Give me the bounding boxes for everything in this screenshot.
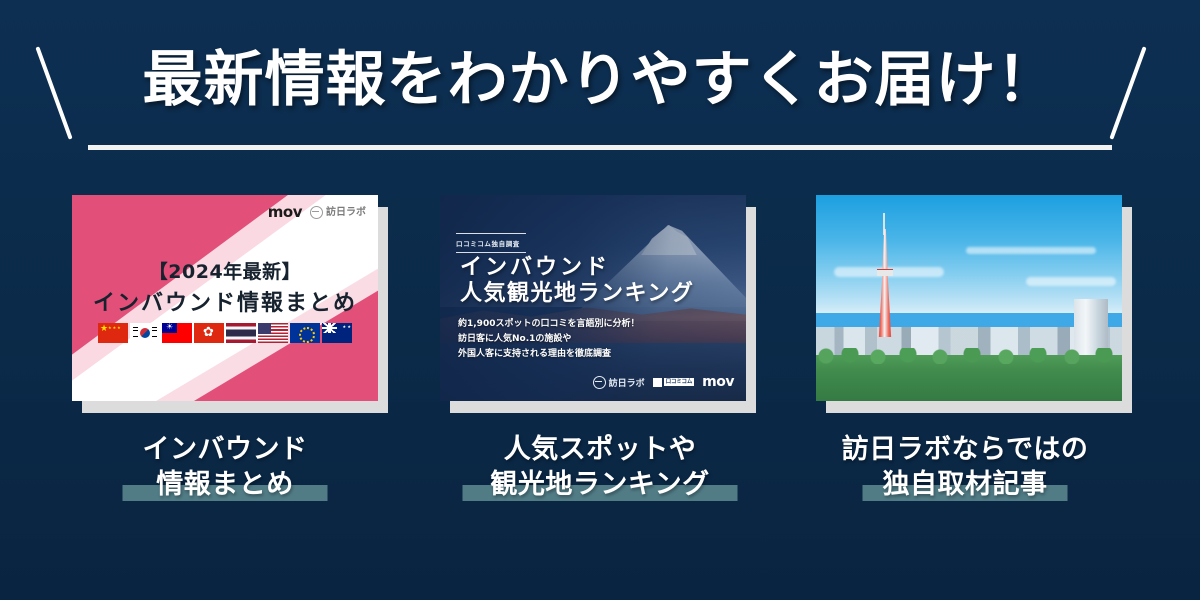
green-foliage [816,355,1122,401]
hounichi-mark-icon [593,376,606,389]
kuchikomicom-logo: 口コミコム [653,378,695,387]
page-headline: 最新情報をわかりやすくお届け！ [0,50,1200,110]
card1-title-line2: インバウンド情報まとめ [72,285,378,317]
caption-original-article: 訪日ラボならではの 独自取材記事 [785,432,1145,502]
caption-line-2: 情報まとめ [45,467,405,502]
hounichi-labo-label: 訪日ラボ [609,376,645,389]
card1-logo-row: mov 訪日ラボ [268,205,366,220]
card-row: mov 訪日ラボ 【2024年最新】 インバウンド情報まとめ [0,188,1200,418]
hounichi-labo-label: 訪日ラボ [326,208,366,218]
card2-logo-row: 訪日ラボ 口コミコム mov [593,374,734,390]
united-states-flag [258,323,288,343]
card-thumbnail[interactable]: mov 訪日ラボ 【2024年最新】 インバウンド情報まとめ [72,195,378,401]
card2-title-line1: インバウンド [460,257,610,279]
hong-kong-flag [194,323,224,343]
card1-title-line1: 【2024年最新】 [72,257,378,284]
headline-divider [88,145,1112,150]
caption-ranking: 人気スポットや 観光地ランキング [420,432,780,502]
thailand-flag [226,323,256,343]
european-union-flag [290,323,320,343]
cloud-shape [1026,277,1116,286]
card2-body-line2: 訪日客に人気No.1の施設や [458,332,639,347]
kuchikomicom-label: 口コミコム [664,378,695,386]
caption-line-1: 人気スポットや [420,432,780,467]
taiwan-flag [162,323,192,343]
australia-flag [322,323,352,343]
card2-body-line3: 外国人客に支持される理由を徹底調査 [458,347,639,362]
sky-backdrop [816,195,1122,313]
card2-body-line1: 約1,900スポットの口コミを言語別に分析！ [458,317,639,332]
mov-logo: mov [702,374,734,390]
card-original-article[interactable] [816,195,1122,401]
card-inbound-matome[interactable]: mov 訪日ラボ 【2024年最新】 インバウンド情報まとめ [72,195,378,401]
kuchikomicom-mark-icon [653,378,662,387]
card-thumbnail[interactable]: 口コミコム独自調査 インバウンド 人気観光地ランキング 約1,900スポットの口… [440,195,746,401]
card-ranking[interactable]: 口コミコム独自調査 インバウンド 人気観光地ランキング 約1,900スポットの口… [440,195,746,401]
china-flag [98,323,128,343]
headline-block: 最新情報をわかりやすくお届け！ [0,28,1200,158]
caption-row: インバウンド 情報まとめ 人気スポットや 観光地ランキング 訪日ラボならではの … [0,432,1200,542]
mov-logo: mov [268,205,302,220]
hounichi-mark-icon [310,206,323,219]
card2-body: 約1,900スポットの口コミを言語別に分析！ 訪日客に人気No.1の施設や 外国… [458,317,639,362]
hounichi-labo-logo: 訪日ラボ [593,376,645,389]
card2-eyebrow: 口コミコム独自調査 [456,233,526,253]
caption-line-2: 観光地ランキング [420,467,780,502]
cloud-shape [966,247,1096,254]
caption-line-1: 訪日ラボならではの [785,432,1145,467]
hounichi-labo-logo: 訪日ラボ [310,206,366,219]
card2-title-line2: 人気観光地ランキング [460,283,694,305]
card-thumbnail[interactable] [816,195,1122,401]
promo-banner: 最新情報をわかりやすくお届け！ mov 訪日ラボ 【2024年最新】 [0,0,1200,600]
south-korea-flag [130,323,160,343]
caption-line-1: インバウンド [45,432,405,467]
flag-strip [72,323,378,343]
caption-inbound-matome: インバウンド 情報まとめ [45,432,405,502]
caption-line-2: 独自取材記事 [785,467,1145,502]
tokyo-tower-observation-deck [877,269,893,276]
